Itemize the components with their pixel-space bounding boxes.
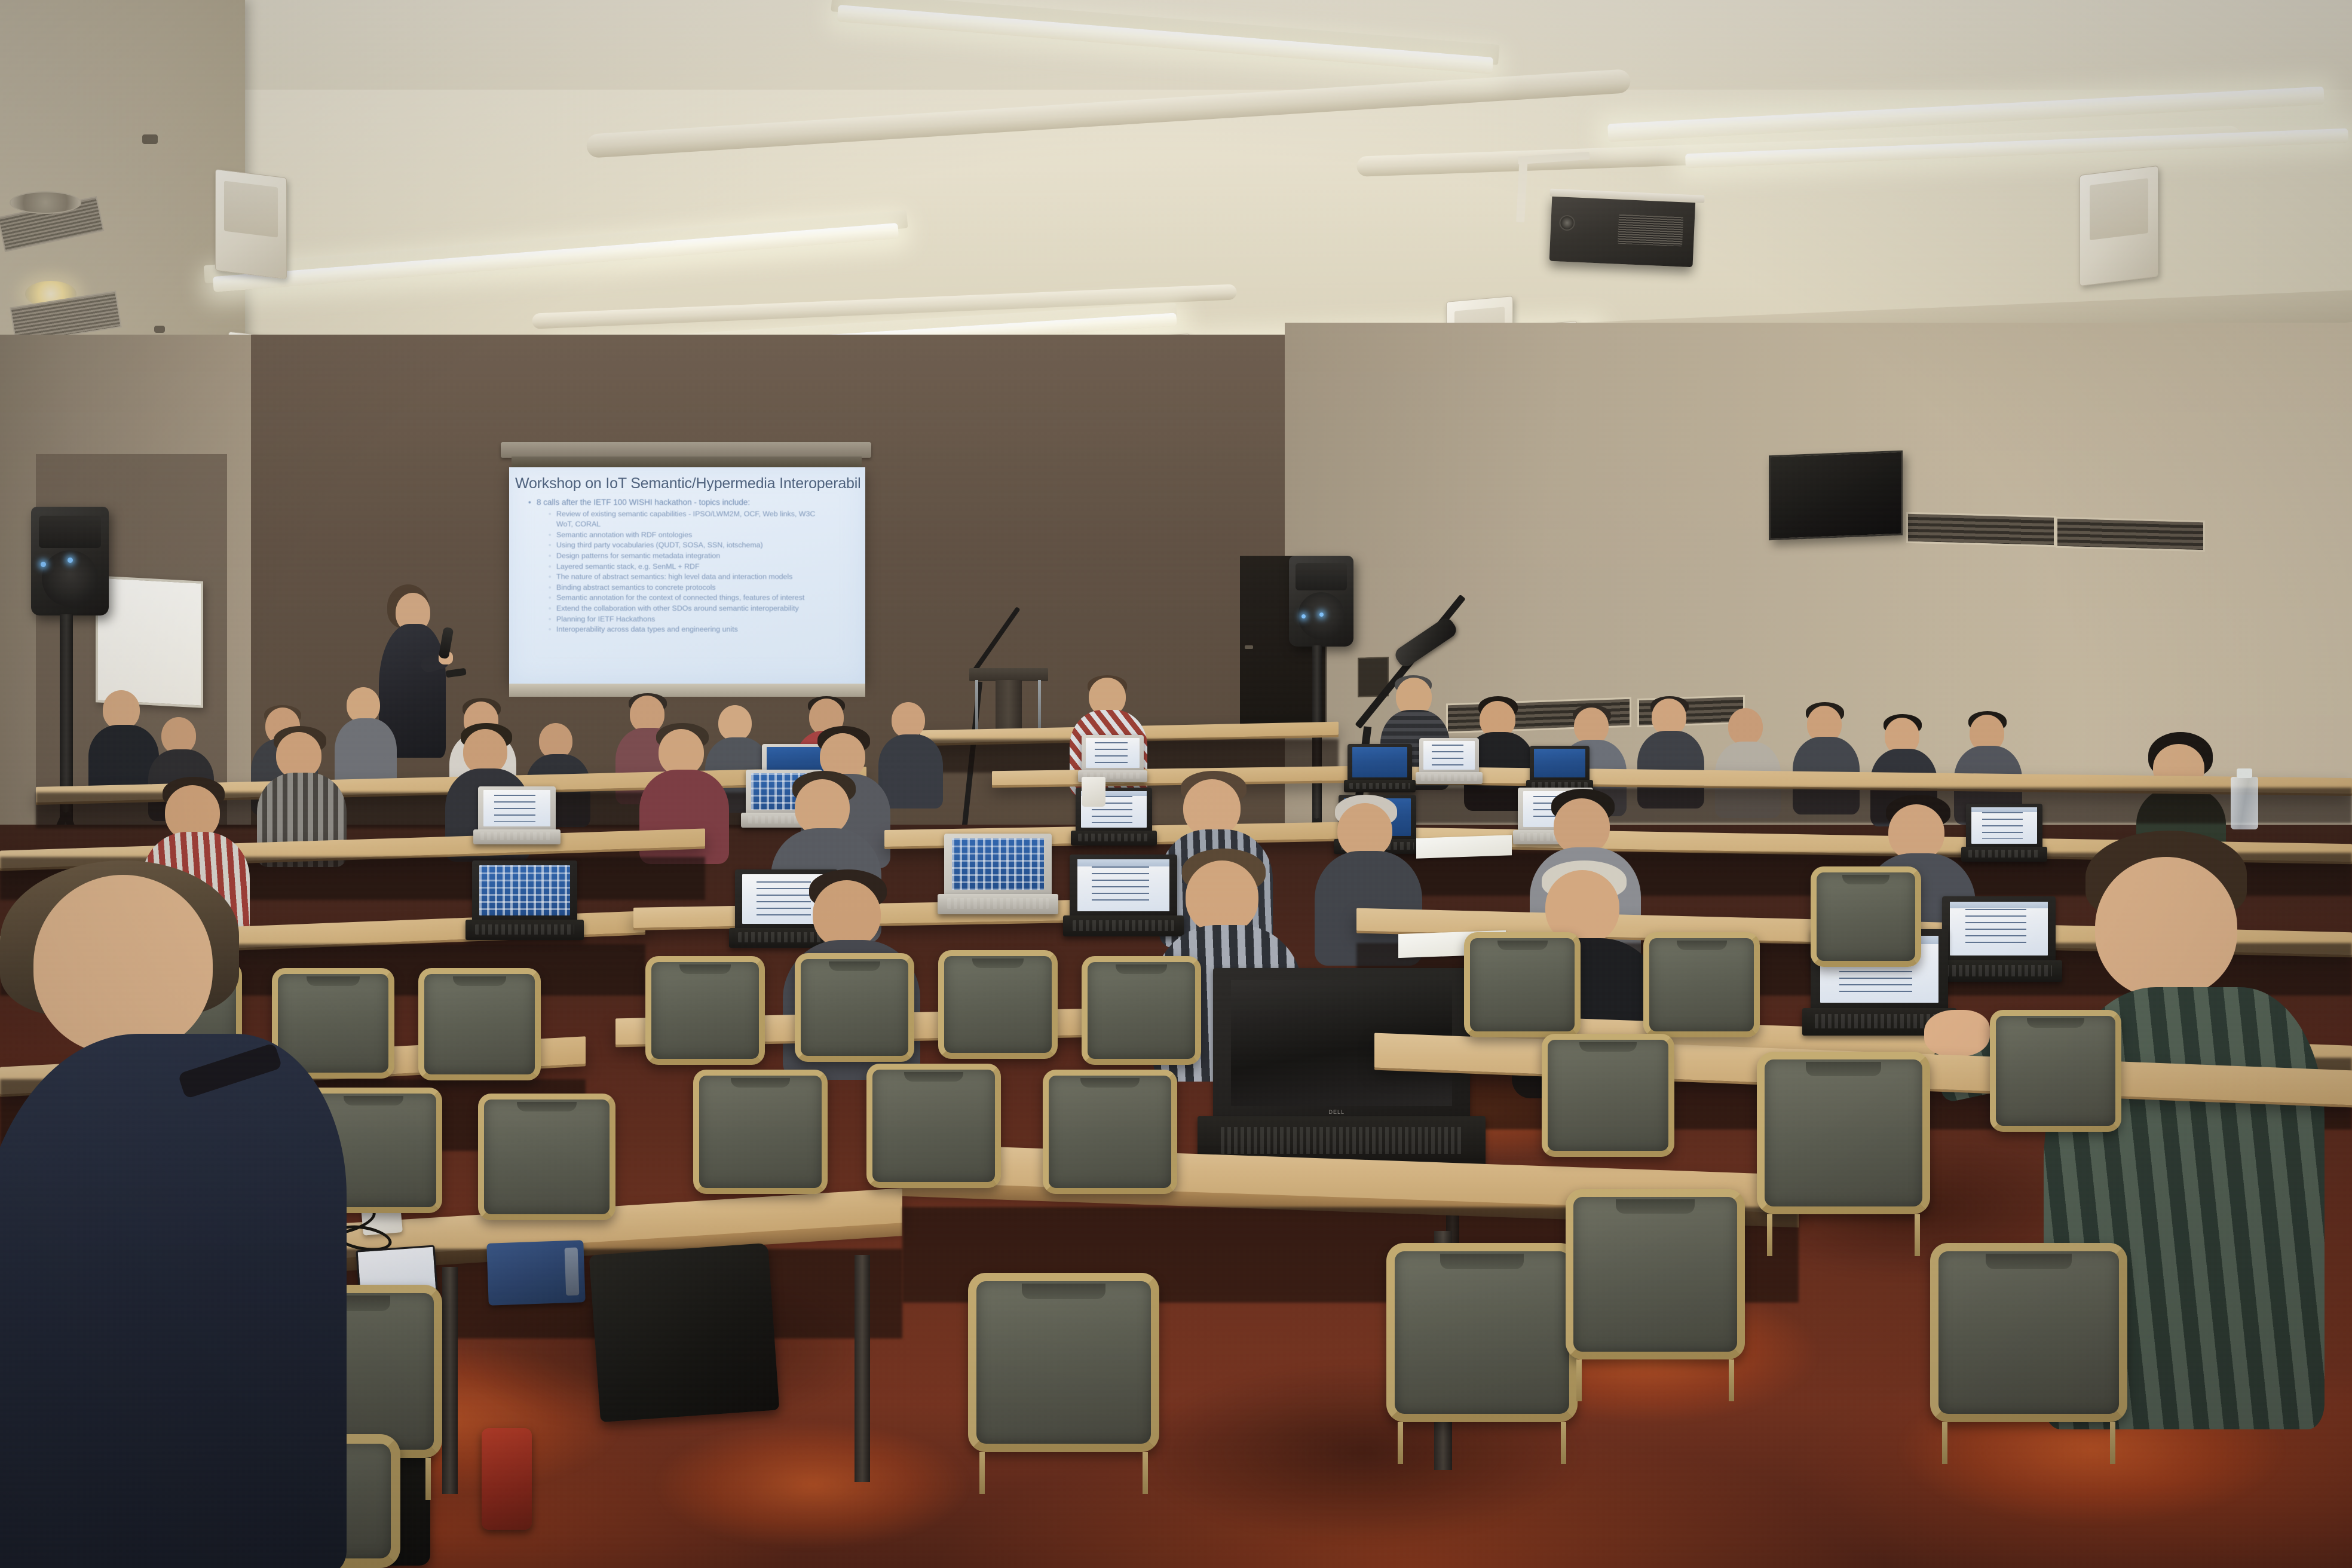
screen-text-lines	[1965, 909, 2026, 948]
chair-frame	[1757, 1052, 1930, 1214]
laptop-keyboard[interactable]	[480, 832, 553, 840]
laptop-keyboard[interactable]	[1221, 1127, 1463, 1154]
slide-sub-bullet: ◦Interoperability across data types and …	[549, 624, 860, 635]
slide-title: Workshop on IoT Semantic/Hypermedia Inte…	[515, 476, 860, 492]
slide-sub-bullet: ◦Layered semantic stack, e.g. SenML + RD…	[549, 562, 860, 572]
attendee-head	[659, 729, 704, 776]
lectern-post	[996, 680, 1022, 733]
chair-frame	[693, 1070, 828, 1194]
slide-sub-bullet: ◦Semantic annotation with RDF ontologies	[549, 530, 860, 541]
attendee-head	[33, 875, 213, 1054]
chair-frame	[1643, 932, 1760, 1037]
chair-notch	[1579, 1042, 1637, 1052]
slide-sub-bullet-text: Semantic annotation with RDF ontologies	[556, 531, 692, 539]
laptop-lid	[478, 786, 556, 830]
screen-roller	[512, 457, 862, 467]
chair[interactable]	[1043, 1070, 1177, 1194]
slide-sub-bullet: ◦Binding abstract semantics to concrete …	[549, 583, 860, 593]
attendee-head	[1652, 699, 1686, 736]
chair-frame	[1386, 1243, 1578, 1422]
chair[interactable]	[418, 968, 541, 1080]
chair-foreground[interactable]	[1930, 1243, 2127, 1422]
chair-legs	[1942, 1422, 2115, 1464]
laptop-row2-c[interactable]	[1347, 744, 1412, 792]
attendee-head	[463, 729, 507, 774]
attendee-head	[1728, 708, 1763, 745]
slide-sub-bullet: ◦Review of existing semantic capabilitie…	[549, 509, 860, 520]
slide-sub-bullet-text: Extend the collaboration with other SDOs…	[556, 604, 799, 612]
pouch-zipper[interactable]	[564, 1248, 579, 1296]
attendee-head	[103, 690, 140, 730]
bullet-glyph: •	[528, 498, 537, 507]
dell-brand-logo: DELL	[1329, 1109, 1345, 1115]
attendee-body	[0, 1034, 347, 1568]
chair-notch	[1022, 1284, 1105, 1299]
speaker-led-indicator	[1301, 614, 1306, 618]
slide-bullet-level1: •8 calls after the IETF 100 WISHI hackat…	[528, 498, 860, 507]
slide-sub-bullet: ◦Using third party vocabularies (QUDT, S…	[549, 540, 860, 551]
bottle-cap	[2237, 768, 2252, 778]
attendee-head	[2095, 857, 2237, 998]
table-underside	[1368, 788, 2352, 823]
laptop-lid	[1530, 746, 1590, 780]
laptop-row2-b[interactable]	[1082, 735, 1144, 782]
laptop-screen	[1534, 749, 1585, 778]
carpet-pattern	[657, 1422, 968, 1548]
screen-mount	[501, 442, 871, 458]
chair-frame	[1082, 956, 1201, 1065]
slide-sub-bullet-text: Layered semantic stack, e.g. SenML + RDF	[556, 562, 700, 571]
slide-sub-bullet: ◦Extend the collaboration with other SDO…	[549, 604, 860, 614]
chair-frame	[1542, 1034, 1674, 1157]
chair[interactable]	[693, 1070, 828, 1194]
wall-speaker	[215, 169, 287, 280]
chair[interactable]	[478, 1094, 615, 1220]
hollow-bullet-glyph: ◦	[549, 593, 556, 604]
wall-air-vent	[2056, 517, 2205, 552]
chair-notch	[1080, 1078, 1139, 1088]
laptop-keyboard[interactable]	[947, 898, 1048, 909]
speaker-horn	[39, 516, 101, 549]
chair-notch	[904, 1072, 963, 1082]
paper-cup[interactable]	[1082, 777, 1105, 807]
laptop-base	[1416, 772, 1483, 784]
chair-frame	[968, 1273, 1159, 1452]
laptop-base	[465, 920, 583, 940]
chair-frame	[418, 968, 541, 1080]
chair[interactable]	[645, 956, 765, 1065]
laptop-lid	[1082, 735, 1144, 770]
chair-notch	[1806, 1062, 1882, 1076]
laptop-row2-e[interactable]	[1530, 746, 1590, 791]
speaker-horn	[1296, 563, 1347, 590]
wall-speaker	[2080, 166, 2158, 286]
attendee-head	[1337, 803, 1392, 858]
laptop-lid	[472, 860, 577, 920]
attendee-head	[1186, 860, 1258, 933]
wall-air-vent	[1906, 512, 2056, 547]
lectern-rail	[975, 680, 978, 735]
laptop-screen	[1086, 738, 1139, 768]
ceiling-sprinkler	[142, 134, 158, 144]
water-bottle[interactable]	[2231, 777, 2258, 829]
laptop-lid	[1966, 804, 2042, 847]
chair[interactable]	[1464, 932, 1581, 1037]
laptop-screen	[1352, 747, 1408, 777]
chair[interactable]	[1082, 956, 1201, 1065]
laptop-lid	[1419, 738, 1479, 773]
screen-browser-bar	[1971, 807, 2037, 812]
hollow-bullet-glyph: ◦	[549, 604, 556, 614]
chair-foreground[interactable]	[1386, 1243, 1578, 1422]
chair-frame	[1566, 1189, 1745, 1359]
chair-frame	[645, 956, 765, 1065]
slide-sub-bullet-text: Binding abstract semantics to concrete p…	[556, 583, 716, 592]
chair[interactable]	[1643, 932, 1760, 1037]
chair-notch	[829, 961, 880, 971]
laptop-screen	[952, 838, 1045, 890]
laptop-screen	[483, 790, 550, 826]
attendee-head	[1574, 708, 1609, 745]
chair-notch	[1616, 1199, 1695, 1214]
laptop-screen	[1423, 741, 1475, 770]
chair-legs	[979, 1452, 1148, 1494]
laptop-base	[473, 829, 561, 844]
chair[interactable]	[1990, 1010, 2121, 1132]
speaker-led-indicator	[1319, 612, 1324, 617]
attendee-head	[539, 723, 572, 759]
attendee-head	[276, 732, 321, 779]
screen-bottom-bar	[509, 684, 865, 697]
laptop-lid	[1347, 744, 1412, 780]
screen-text-lines	[1982, 812, 2023, 838]
laptop-keyboard[interactable]	[475, 924, 574, 935]
ceiling-sprinkler	[154, 326, 165, 333]
hollow-bullet-glyph: ◦	[549, 551, 556, 562]
slide-sub-bullet-text: Planning for IETF Hackathons	[556, 615, 655, 623]
papers[interactable]	[1416, 835, 1512, 859]
chair-foreground[interactable]	[1566, 1189, 1745, 1359]
slide-sub-bullet: ◦The nature of abstract semantics: high …	[549, 572, 860, 583]
laptop-base	[1071, 831, 1156, 846]
red-thermos[interactable]	[482, 1428, 532, 1530]
screen-text-lines	[1432, 745, 1463, 765]
chair-frame	[1930, 1243, 2127, 1422]
chair-frame	[795, 953, 914, 1062]
lectern-top	[969, 668, 1048, 681]
laptop-row2-d[interactable]	[1419, 738, 1479, 783]
attendee-head	[1554, 798, 1610, 855]
chair-foreground[interactable]	[968, 1273, 1159, 1452]
attendee-foreground-left	[0, 860, 347, 1568]
lectern-rail	[1038, 680, 1041, 735]
screen-browser-bar	[1950, 902, 2047, 909]
laptop-row4-e[interactable]	[1942, 896, 2056, 981]
slide-sub-bullet-text: Using third party vocabularies (QUDT, SO…	[556, 541, 763, 549]
laptop-base	[1344, 780, 1416, 792]
attendee-head	[161, 717, 196, 754]
slide-sub-bullet-text: WoT, CORAL	[556, 520, 601, 528]
chair-frame	[1464, 932, 1581, 1037]
slide-sub-bullet: ◦Planning for IETF Hackathons	[549, 614, 860, 625]
projector-icon	[1549, 194, 1696, 267]
attendee-head	[347, 687, 380, 723]
laptop-keyboard[interactable]	[1349, 783, 1410, 789]
slide-bullet-level1-text: 8 calls after the IETF 100 WISHI hackath…	[537, 498, 750, 507]
chair-notch	[1842, 875, 1889, 884]
chair[interactable]	[795, 953, 914, 1062]
chair[interactable]	[1757, 1052, 1930, 1214]
laptop-keyboard[interactable]	[1078, 834, 1150, 841]
door-handle[interactable]	[1245, 645, 1253, 649]
slide-content: Workshop on IoT Semantic/Hypermedia Inte…	[515, 476, 860, 678]
slide-sub-bullet-text: Interoperability across data types and e…	[556, 625, 738, 633]
hollow-bullet-glyph: ◦	[549, 614, 556, 625]
slide-sub-bullet-text: Review of existing semantic capabilities…	[556, 510, 815, 518]
slide-sub-bullet-wrap: WoT, CORAL	[556, 519, 860, 530]
attendee-body	[639, 770, 729, 864]
ceiling-round-vent	[10, 191, 81, 214]
conference-room-photo: Workshop on IoT Semantic/Hypermedia Inte…	[0, 0, 2352, 1568]
hollow-bullet-glyph: ◦	[549, 583, 556, 593]
chair-notch	[2027, 1018, 2084, 1028]
chair-frame	[1043, 1070, 1177, 1194]
laptop-keyboard[interactable]	[1946, 965, 2053, 976]
wall-mounted-tv	[1769, 451, 1903, 541]
table-leg	[442, 1267, 458, 1494]
chair-notch	[1116, 964, 1167, 974]
attendee-head	[1888, 804, 1944, 860]
chair-notch	[1677, 941, 1727, 950]
slide-sub-bullet-text: Semantic annotation for the context of c…	[556, 593, 804, 602]
chair[interactable]	[1542, 1034, 1674, 1157]
slide-sub-bullet-text: Design patterns for semantic metadata in…	[556, 552, 720, 560]
hollow-bullet-glyph: ◦	[549, 624, 556, 635]
chair[interactable]	[938, 950, 1058, 1059]
chair-notch	[972, 958, 1024, 968]
attendee-head	[795, 779, 850, 835]
chair-notch	[453, 976, 506, 986]
table-leg	[855, 1255, 870, 1482]
chair-frame	[478, 1094, 615, 1220]
laptop-screen	[1950, 902, 2047, 956]
chair-legs	[1398, 1422, 1566, 1464]
laptop-lid	[944, 834, 1052, 895]
hollow-bullet-glyph: ◦	[549, 540, 556, 551]
laptop-macbook-white[interactable]	[944, 834, 1052, 914]
chair-frame	[1811, 866, 1921, 967]
chair-notch	[731, 1078, 789, 1088]
chair-notch	[1497, 941, 1548, 950]
laptop-row3-a[interactable]	[478, 786, 556, 844]
speaker-led-indicator	[68, 558, 73, 563]
hollow-bullet-glyph: ◦	[549, 562, 556, 572]
laptop-screen	[1971, 807, 2037, 844]
hollow-bullet-glyph: ◦	[549, 572, 556, 583]
pa-speaker-right	[1289, 556, 1353, 647]
projector-lens	[1559, 215, 1575, 231]
chair-notch	[1440, 1254, 1524, 1269]
screen-text-lines	[1092, 866, 1149, 904]
projector-vents	[1618, 215, 1683, 247]
screen-text-lines	[494, 795, 535, 821]
hollow-bullet-glyph: ◦	[549, 509, 556, 520]
slide-sub-bullet-text: The nature of abstract semantics: high l…	[556, 572, 792, 581]
laptop-base	[938, 894, 1058, 915]
slide-sub-bullet: ◦Semantic annotation for the context of …	[549, 593, 860, 604]
speaker-led-indicator	[41, 562, 46, 567]
chair-legs	[1767, 1214, 1919, 1256]
chair-notch	[517, 1102, 577, 1111]
chair-notch	[344, 1096, 404, 1105]
laptop-screen	[479, 865, 569, 915]
screen-text-lines	[1095, 742, 1128, 764]
laptop-keyboard[interactable]	[1421, 774, 1477, 780]
chair-notch	[679, 964, 731, 974]
chair-frame	[938, 950, 1058, 1059]
laptop-row4-c[interactable]	[472, 860, 577, 939]
laptop-row3-f[interactable]	[1966, 804, 2042, 861]
attendee-head	[813, 880, 881, 948]
attendee-head	[892, 702, 925, 738]
chair[interactable]	[866, 1064, 1001, 1188]
whiteboard	[96, 575, 203, 708]
chair-frame	[1990, 1010, 2121, 1132]
attendee-hand	[1924, 1010, 1990, 1056]
chair-notch	[1986, 1254, 2072, 1269]
chair-legs	[1576, 1359, 1734, 1401]
slide-sub-bullet: ◦Design patterns for semantic metadata i…	[549, 551, 860, 562]
backpack[interactable]	[589, 1243, 780, 1422]
laptop-keyboard[interactable]	[1968, 850, 2040, 857]
slide-sub-bullets: ◦Review of existing semantic capabilitie…	[549, 509, 860, 635]
projection-screen: Workshop on IoT Semantic/Hypermedia Inte…	[509, 467, 865, 684]
lectern	[969, 668, 1048, 737]
hollow-bullet-glyph: ◦	[549, 530, 556, 541]
laptop-lid	[1942, 896, 2056, 961]
attendee-head	[1183, 779, 1241, 837]
chair-frame	[866, 1064, 1001, 1188]
blue-pouch[interactable]	[486, 1240, 586, 1306]
chair[interactable]	[1811, 866, 1921, 967]
